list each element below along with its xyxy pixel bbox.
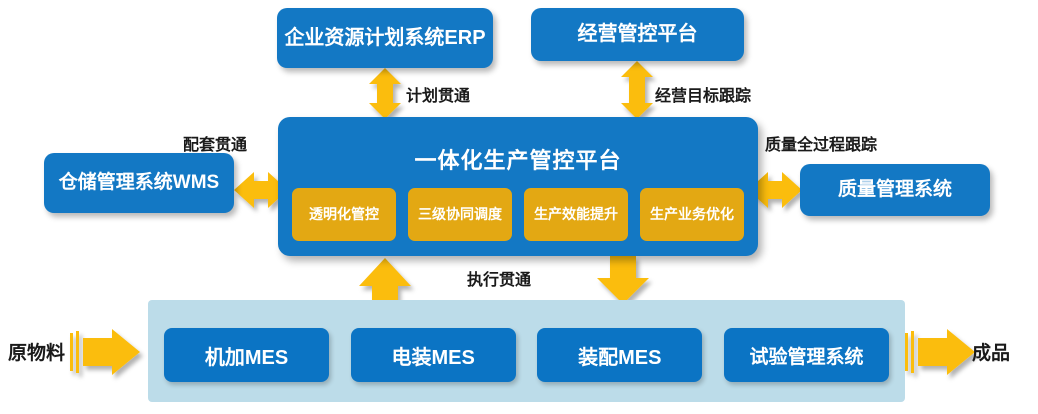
platform-title: 一体化生产管控平台	[278, 143, 758, 175]
capability-card[interactable]: 生产业务优化	[640, 188, 744, 241]
connector-label-business-goal-tracking: 经营目标跟踪	[655, 82, 751, 106]
capability-card[interactable]: 三级协同调度	[408, 188, 512, 241]
flow-label-finished-goods: 成品	[972, 338, 1010, 365]
node-erp[interactable]: 企业资源计划系统ERP	[277, 8, 493, 68]
node-mes[interactable]: 电装MES	[351, 328, 516, 382]
mes-row: 机加MES 电装MES 装配MES 试验管理系统	[164, 328, 889, 382]
node-wms[interactable]: 仓储管理系统WMS	[44, 153, 234, 213]
capability-card[interactable]: 生产效能提升	[524, 188, 628, 241]
diagram-canvas: 企业资源计划系统ERP 经营管控平台 仓储管理系统WMS 质量管理系统 一体化生…	[0, 0, 1038, 414]
node-mes[interactable]: 机加MES	[164, 328, 329, 382]
arrow-execution-down	[597, 256, 649, 304]
node-quality-management-system[interactable]: 质量管理系统	[800, 164, 990, 216]
connector-label-plan: 计划贯通	[406, 82, 470, 106]
node-mes[interactable]: 试验管理系统	[724, 328, 889, 382]
connector-label-quality-tracking: 质量全过程跟踪	[765, 131, 877, 155]
arrow-erp-platform	[369, 68, 401, 119]
capability-card[interactable]: 透明化管控	[292, 188, 396, 241]
arrow-bizplat-platform	[621, 61, 653, 119]
node-mes[interactable]: 装配MES	[537, 328, 702, 382]
node-business-management-platform[interactable]: 经营管控平台	[531, 8, 744, 61]
connector-label-execution: 执行贯通	[467, 266, 531, 290]
central-platform[interactable]: 一体化生产管控平台 透明化管控 三级协同调度 生产效能提升 生产业务优化	[278, 117, 758, 256]
arrow-finished-goods-out	[905, 329, 975, 375]
flow-label-raw-material: 原物料	[8, 338, 65, 365]
connector-label-supply: 配套贯通	[183, 131, 247, 155]
arrow-execution-up	[359, 258, 411, 302]
capability-row: 透明化管控 三级协同调度 生产效能提升 生产业务优化	[292, 188, 744, 241]
mes-band: 机加MES 电装MES 装配MES 试验管理系统	[148, 300, 905, 402]
arrow-raw-material-in	[70, 329, 140, 375]
